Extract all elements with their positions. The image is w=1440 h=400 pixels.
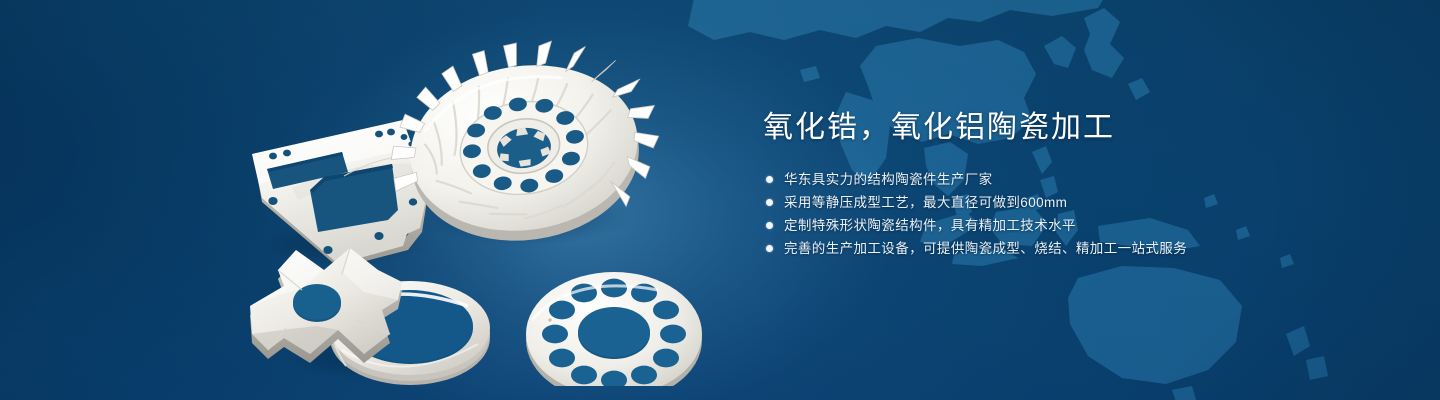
list-item: 定制特殊形状陶瓷结构件，具有精加工技术水平	[766, 214, 1323, 237]
list-item-label: 华东具实力的结构陶瓷件生产厂家	[784, 168, 993, 191]
bullet-dot-icon	[766, 245, 773, 252]
list-item: 华东具实力的结构陶瓷件生产厂家	[766, 168, 1323, 191]
bullet-dot-icon	[766, 222, 773, 229]
banner-copy: 氧化锆，氧化铝陶瓷加工 华东具实力的结构陶瓷件生产厂家 采用等静压成型工艺，最大…	[763, 108, 1323, 260]
list-item-label: 采用等静压成型工艺，最大直径可做到600mm	[784, 191, 1067, 214]
bullet-dot-icon	[766, 199, 773, 206]
feature-list: 华东具实力的结构陶瓷件生产厂家 采用等静压成型工艺，最大直径可做到600mm 定…	[763, 168, 1323, 260]
ceramic-products-photo	[232, 38, 714, 386]
ceramic-perforated-disc	[526, 272, 702, 386]
page-title: 氧化锆，氧化铝陶瓷加工	[763, 108, 1323, 148]
list-item-label: 定制特殊形状陶瓷结构件，具有精加工技术水平	[784, 214, 1076, 237]
list-item: 完善的生产加工设备，可提供陶瓷成型、烧结、精加工一站式服务	[766, 237, 1323, 260]
ceramic-processing-banner: 氧化锆，氧化铝陶瓷加工 华东具实力的结构陶瓷件生产厂家 采用等静压成型工艺，最大…	[0, 0, 1440, 400]
bullet-dot-icon	[766, 176, 773, 183]
list-item-label: 完善的生产加工设备，可提供陶瓷成型、烧结、精加工一站式服务	[784, 237, 1187, 260]
list-item: 采用等静压成型工艺，最大直径可做到600mm	[766, 191, 1323, 214]
